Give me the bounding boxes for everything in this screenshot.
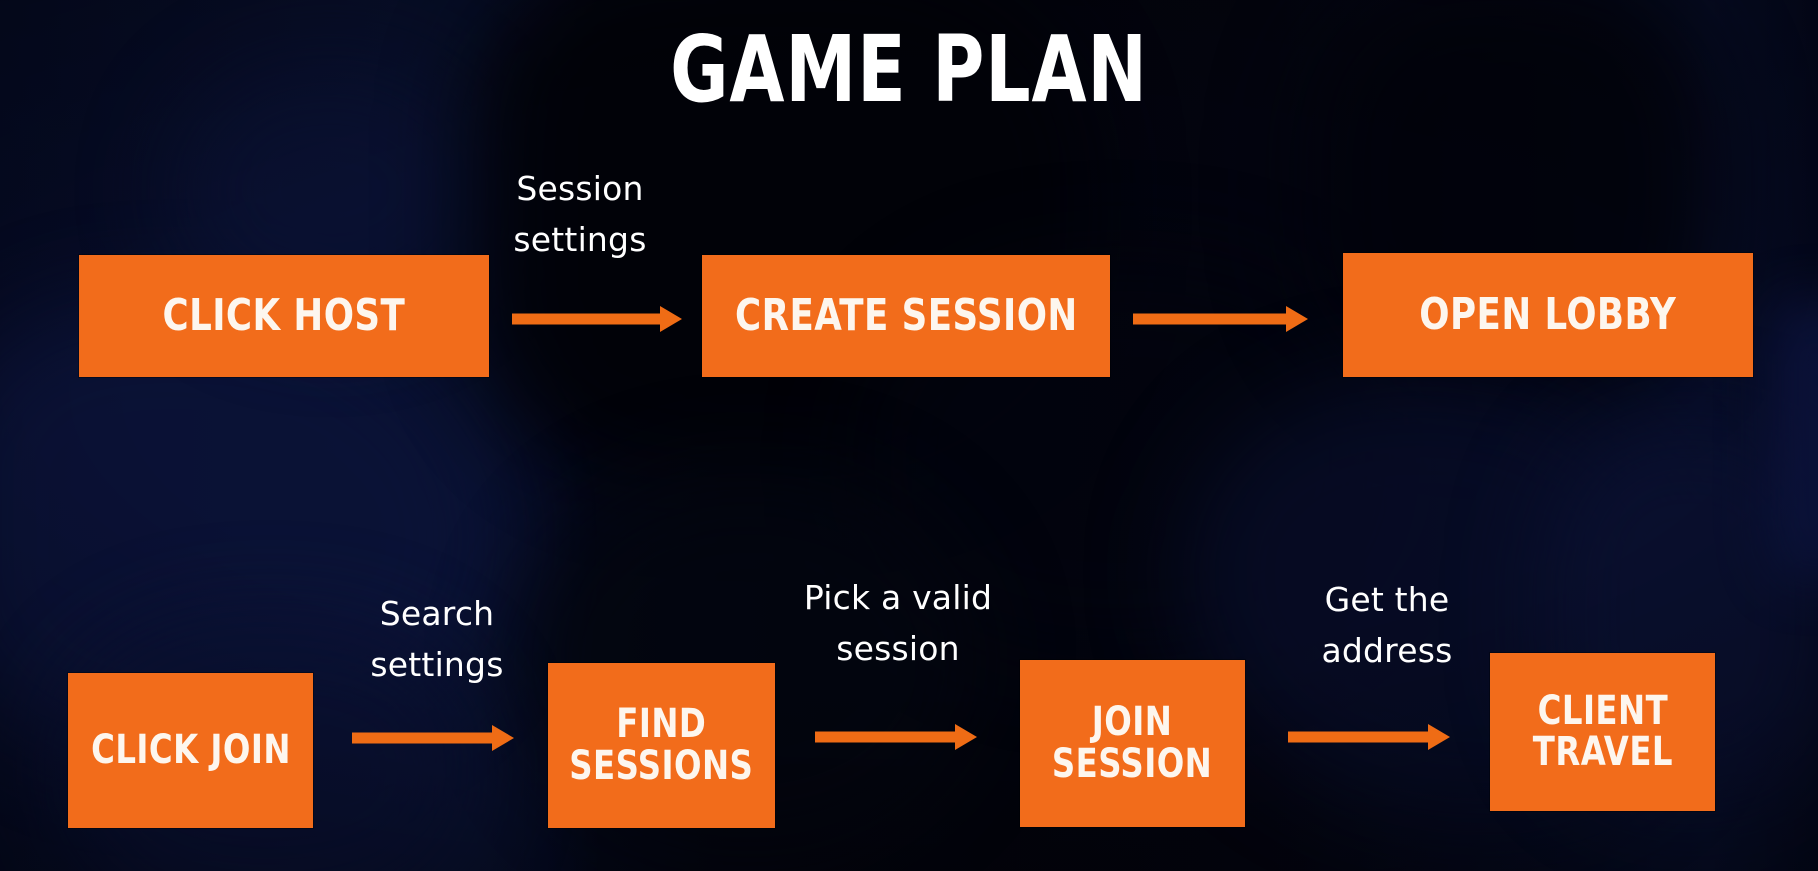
process-box-label: CLICK HOST	[163, 293, 406, 338]
slide-canvas: GAME PLAN CLICK HOST Session settings CR…	[0, 0, 1818, 871]
arrow-head	[1286, 306, 1308, 332]
process-box-label: OPEN LOBBY	[1420, 292, 1677, 337]
process-box-create-session[interactable]: CREATE SESSION	[702, 255, 1110, 377]
arrow-head	[1428, 724, 1450, 750]
process-box-open-lobby[interactable]: OPEN LOBBY	[1343, 253, 1753, 377]
process-box-label: CLICK JOIN	[91, 730, 291, 771]
arrow-shaft	[1133, 314, 1288, 325]
arrow-head	[955, 724, 977, 750]
page-title: GAME PLAN	[127, 24, 1690, 116]
arrow-shaft	[1288, 732, 1430, 743]
process-box-click-host[interactable]: CLICK HOST	[79, 255, 489, 377]
process-box-label: FIND SESSIONS	[569, 704, 753, 786]
process-box-click-join[interactable]: CLICK JOIN	[68, 673, 313, 828]
transition-label-search-settings: Search settings	[357, 588, 517, 690]
transition-label-get-the-address: Get the address	[1302, 574, 1472, 676]
arrow-head	[492, 725, 514, 751]
arrow-shaft	[815, 732, 957, 743]
transition-label-pick-valid-session: Pick a valid session	[798, 572, 998, 674]
transition-label-session-settings: Session settings	[500, 163, 660, 265]
arrow-join-to-travel	[1288, 724, 1450, 750]
process-box-find-sessions[interactable]: FIND SESSIONS	[548, 663, 775, 828]
arrow-shaft	[512, 314, 662, 325]
arrow-shaft	[352, 733, 494, 744]
process-box-join-session[interactable]: JOIN SESSION	[1020, 660, 1245, 827]
arrow-create-to-lobby	[1133, 306, 1308, 332]
process-box-client-travel[interactable]: CLIENT TRAVEL	[1490, 653, 1715, 811]
arrow-join-to-find	[352, 725, 514, 751]
arrow-host-to-create	[512, 306, 682, 332]
arrow-head	[660, 306, 682, 332]
process-box-label: CREATE SESSION	[735, 293, 1078, 338]
process-box-label: JOIN SESSION	[1052, 702, 1212, 784]
process-box-label: CLIENT TRAVEL	[1532, 691, 1672, 773]
arrow-find-to-join	[815, 724, 977, 750]
